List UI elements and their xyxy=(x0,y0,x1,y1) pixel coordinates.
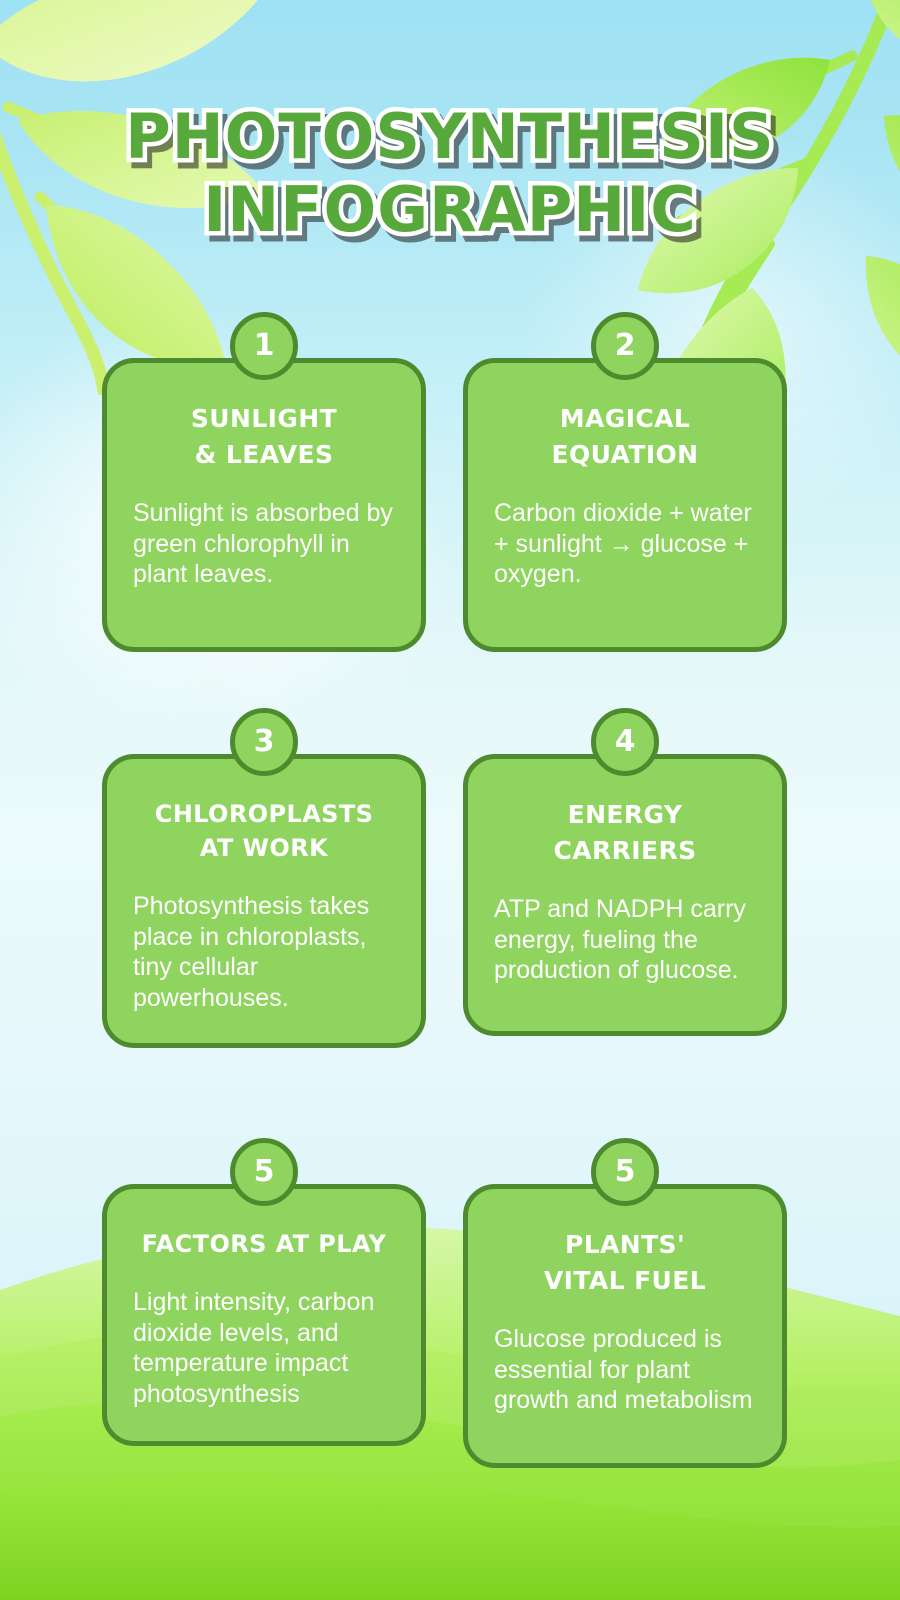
card-6-description: Glucose produced is essential for plant … xyxy=(494,1324,756,1416)
card-2[interactable]: 2 MAGICAL EQUATION Carbon dioxide + wate… xyxy=(463,312,787,652)
card-4-title: ENERGY CARRIERS xyxy=(494,797,756,868)
card-row-3: 5 FACTORS AT PLAY Light intensity, carbo… xyxy=(102,1138,787,1468)
page-title: PHOTOSYNTHESIS INFOGRAPHIC xyxy=(0,100,900,246)
card-3[interactable]: 3 CHLOROPLASTS AT WORK Photosynthesis ta… xyxy=(102,708,426,1048)
card-row-2: 3 CHLOROPLASTS AT WORK Photosynthesis ta… xyxy=(102,708,787,1048)
page-title-line-2: INFOGRAPHIC xyxy=(0,173,900,246)
card-4-step-badge: 4 xyxy=(591,708,659,776)
card-3-title: CHLOROPLASTS AT WORK xyxy=(133,797,395,865)
card-5-title: FACTORS AT PLAY xyxy=(133,1227,395,1261)
card-2-description: Carbon dioxide + water + sunlight → gluc… xyxy=(494,498,756,590)
card-2-body-panel: MAGICAL EQUATION Carbon dioxide + water … xyxy=(463,358,787,652)
card-row-1: 1 SUNLIGHT & LEAVES Sunlight is absorbed… xyxy=(102,312,787,652)
infographic-card-grid: 1 SUNLIGHT & LEAVES Sunlight is absorbed… xyxy=(102,312,787,1468)
card-1-step-badge: 1 xyxy=(230,312,298,380)
card-3-step-badge: 3 xyxy=(230,708,298,776)
card-4-body-panel: ENERGY CARRIERS ATP and NADPH carry ener… xyxy=(463,754,787,1036)
card-2-step-badge: 2 xyxy=(591,312,659,380)
card-4[interactable]: 4 ENERGY CARRIERS ATP and NADPH carry en… xyxy=(463,708,787,1036)
card-5-body-panel: FACTORS AT PLAY Light intensity, carbon … xyxy=(102,1184,426,1446)
page-title-line-1: PHOTOSYNTHESIS xyxy=(125,100,774,173)
card-5-step-badge: 5 xyxy=(230,1138,298,1206)
card-5[interactable]: 5 FACTORS AT PLAY Light intensity, carbo… xyxy=(102,1138,426,1446)
card-1[interactable]: 1 SUNLIGHT & LEAVES Sunlight is absorbed… xyxy=(102,312,426,652)
card-6-title: PLANTS' VITAL FUEL xyxy=(494,1227,756,1298)
card-1-title: SUNLIGHT & LEAVES xyxy=(133,401,395,472)
card-3-body-panel: CHLOROPLASTS AT WORK Photosynthesis take… xyxy=(102,754,426,1048)
card-6[interactable]: 5 PLANTS' VITAL FUEL Glucose produced is… xyxy=(463,1138,787,1468)
card-3-description: Photosynthesis takes place in chloroplas… xyxy=(133,891,395,1013)
card-4-description: ATP and NADPH carry energy, fueling the … xyxy=(494,894,756,986)
card-6-body-panel: PLANTS' VITAL FUEL Glucose produced is e… xyxy=(463,1184,787,1468)
card-6-step-badge: 5 xyxy=(591,1138,659,1206)
card-1-body-panel: SUNLIGHT & LEAVES Sunlight is absorbed b… xyxy=(102,358,426,652)
card-2-title: MAGICAL EQUATION xyxy=(494,401,756,472)
card-5-description: Light intensity, carbon dioxide levels, … xyxy=(133,1287,395,1409)
card-1-description: Sunlight is absorbed by green chlorophyl… xyxy=(133,498,395,590)
